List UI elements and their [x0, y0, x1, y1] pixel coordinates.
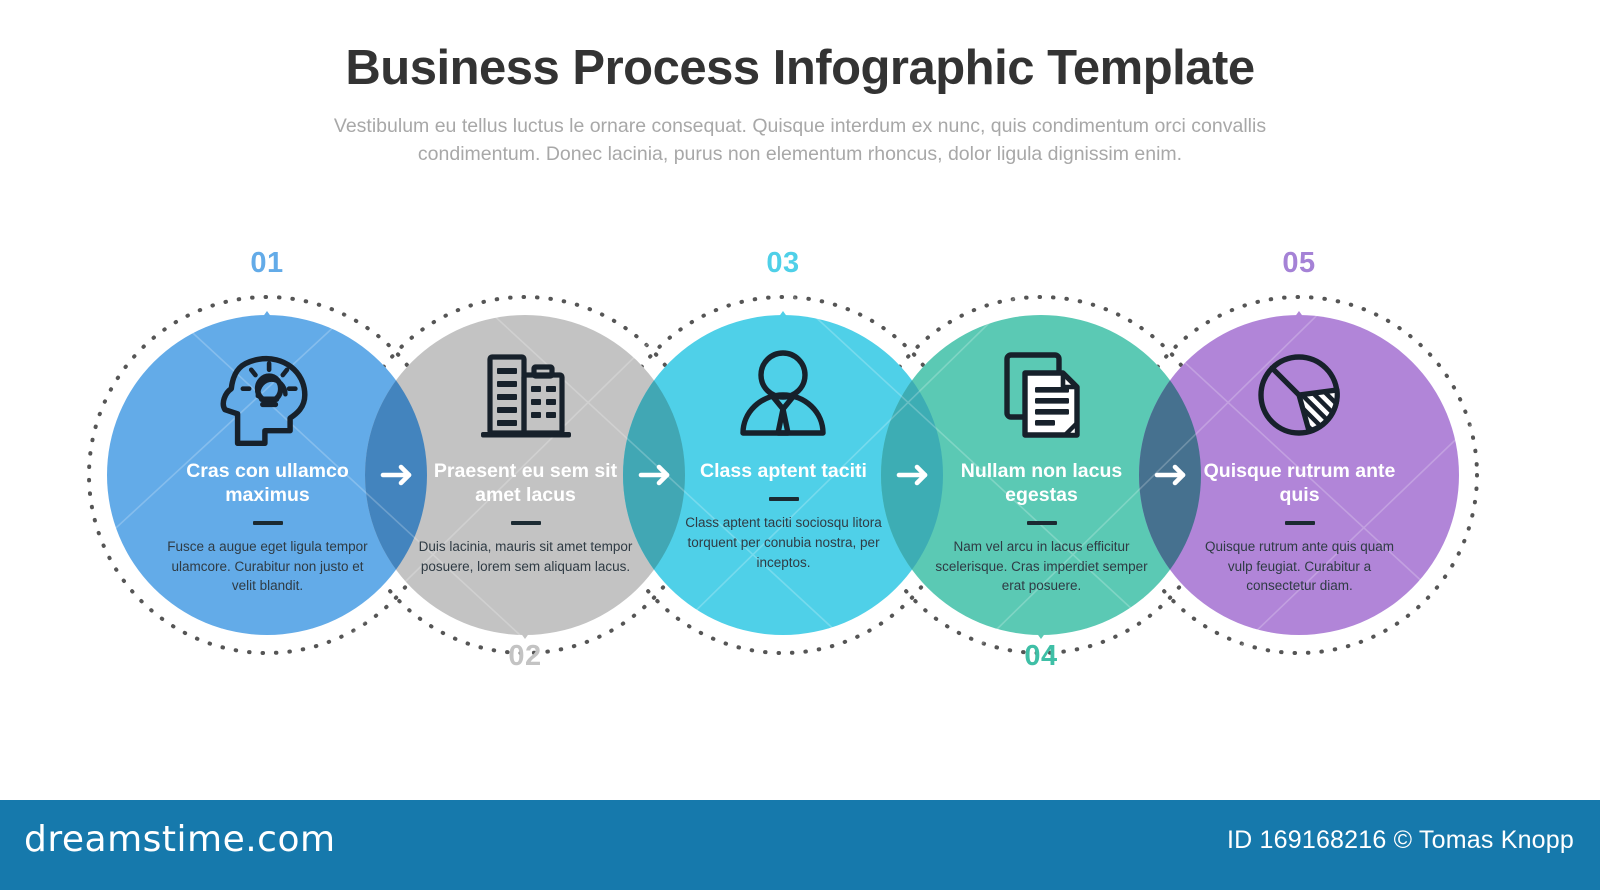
page-title: Business Process Infographic Template [0, 42, 1600, 96]
watermark-footer-bar: dreamstime.com ID 169168216 © Tomas Knop… [0, 800, 1600, 890]
dreamstime-logo: dreamstime.com [24, 819, 336, 860]
image-credit: ID 169168216 © Tomas Knopp [1227, 826, 1574, 855]
step-circles [107, 315, 1459, 635]
step-number-2: 02 [480, 640, 570, 673]
page-subtitle: Vestibulum eu tellus luctus le ornare co… [300, 112, 1300, 169]
step-number-3: 03 [738, 247, 828, 280]
process-circles-svg [0, 215, 1600, 715]
step-number-4: 04 [996, 640, 1086, 673]
step-number-5: 05 [1254, 247, 1344, 280]
step-number-1: 01 [222, 247, 312, 280]
page-header: Business Process Infographic Template Ve… [0, 42, 1600, 168]
infographic-stage: 01 02 03 04 05 Cras con ullamco maximus … [0, 215, 1600, 715]
